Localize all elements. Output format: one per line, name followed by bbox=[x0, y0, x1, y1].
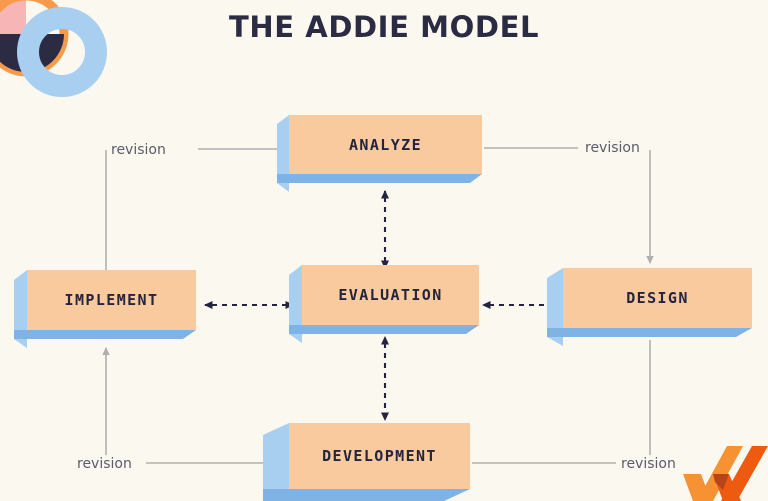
watermark-w-logo-icon bbox=[683, 446, 768, 501]
box-evaluation[interactable]: EVALUATION bbox=[289, 256, 489, 348]
box-design-bottom-face bbox=[547, 328, 752, 337]
revision-label-bottom-right: revision bbox=[621, 456, 676, 472]
box-design-label: DESIGN bbox=[626, 289, 689, 307]
box-development-bottom-face bbox=[263, 489, 470, 501]
revision-label-top-right: revision bbox=[585, 140, 640, 156]
addie-model-diagram: THE ADDIE MODEL bbox=[0, 0, 768, 501]
revision-label-bottom-left: revision bbox=[77, 456, 132, 472]
box-analyze-label: ANALYZE bbox=[349, 136, 422, 154]
box-development[interactable]: DEVELOPMENT bbox=[263, 415, 478, 501]
revision-label-top-left: revision bbox=[111, 142, 166, 158]
box-design[interactable]: DESIGN bbox=[547, 259, 752, 351]
box-implement-bottom-face bbox=[14, 330, 196, 339]
box-implement[interactable]: IMPLEMENT bbox=[14, 261, 214, 353]
box-evaluation-label: EVALUATION bbox=[338, 286, 442, 304]
box-evaluation-bottom-face bbox=[289, 325, 479, 334]
box-analyze[interactable]: ANALYZE bbox=[277, 106, 492, 196]
box-analyze-bottom-face bbox=[277, 174, 482, 183]
box-implement-label: IMPLEMENT bbox=[65, 291, 159, 309]
box-development-label: DEVELOPMENT bbox=[322, 447, 437, 465]
